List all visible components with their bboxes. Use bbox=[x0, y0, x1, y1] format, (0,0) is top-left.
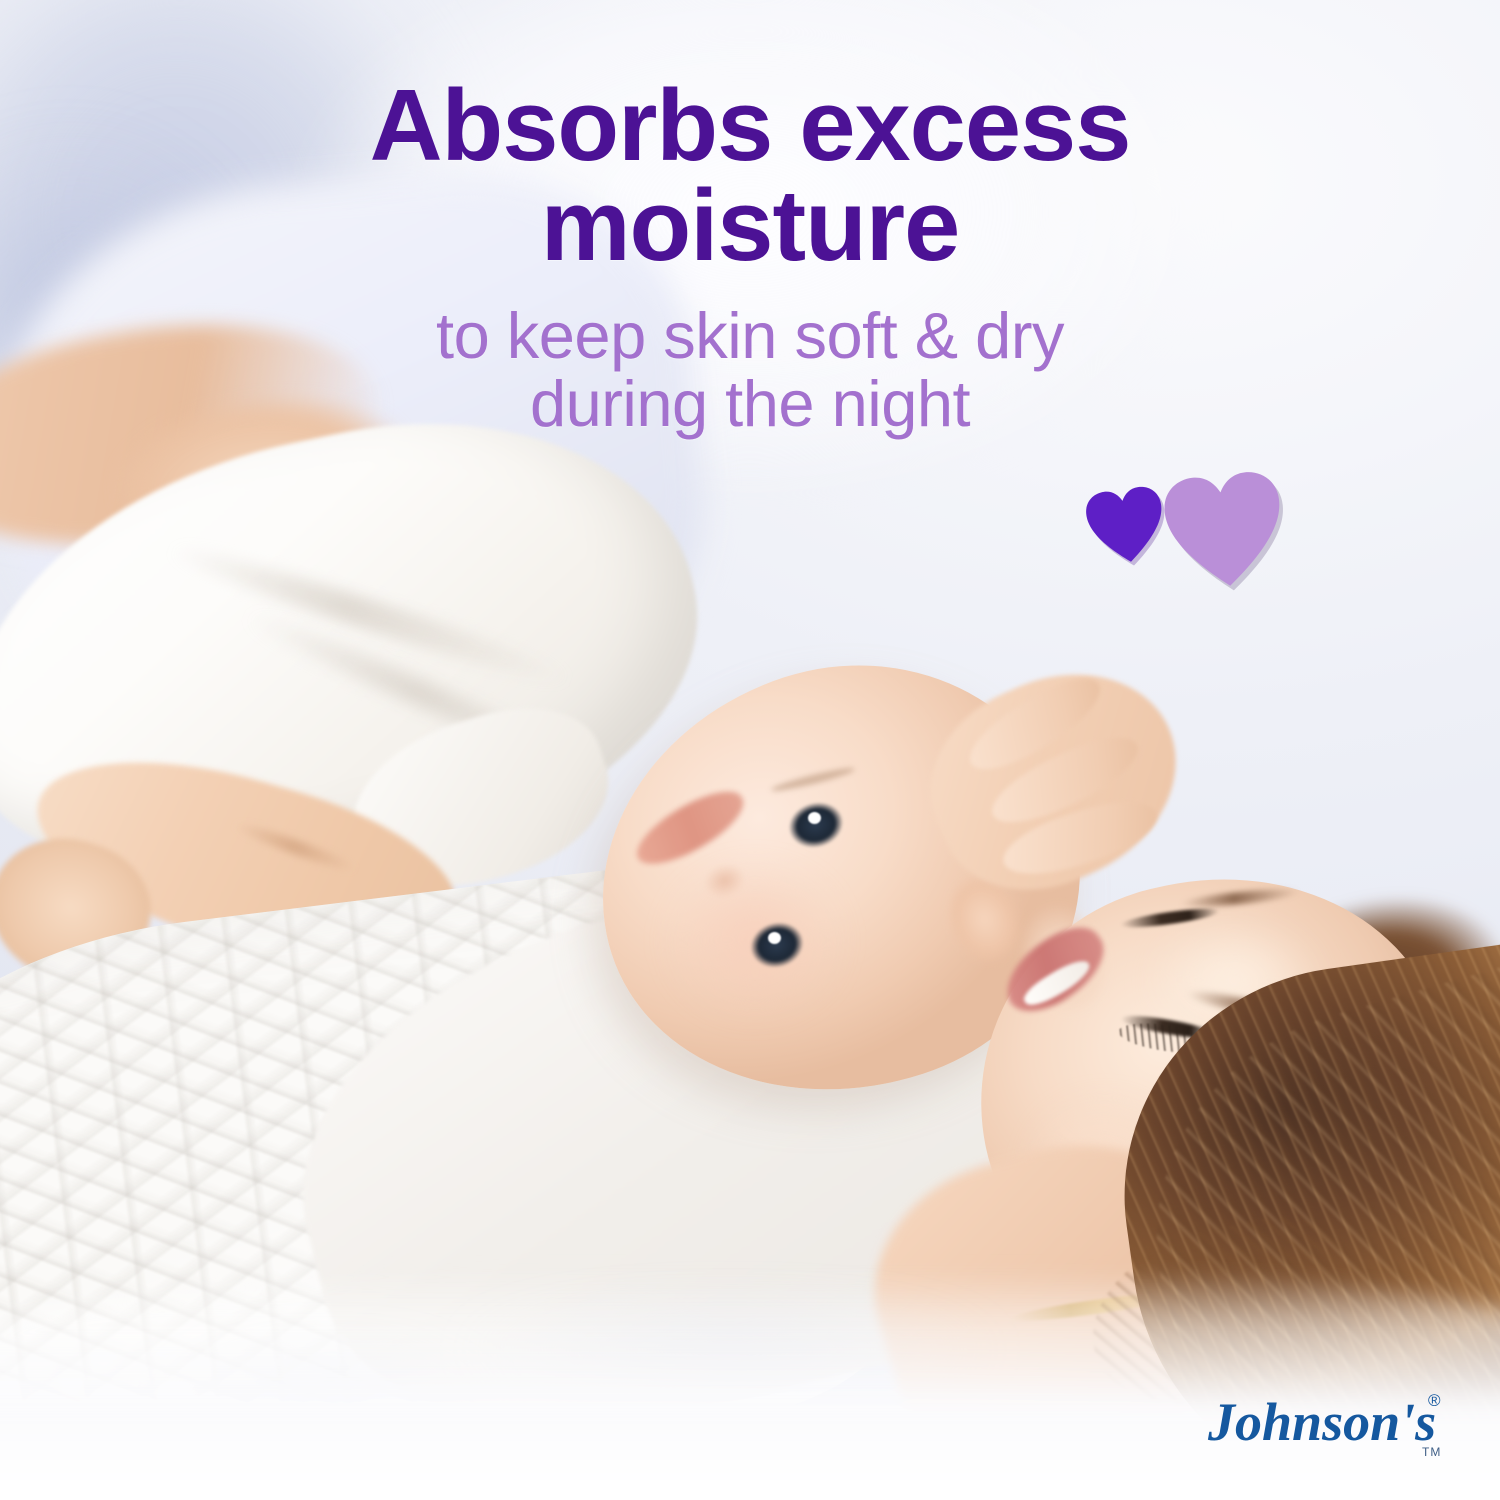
marketing-copy-block: Absorbs excess moisture to keep skin sof… bbox=[0, 76, 1500, 437]
hearts-decoration bbox=[1085, 470, 1315, 590]
trademark-mark: TM bbox=[1422, 1445, 1441, 1459]
heart-icon-large bbox=[1162, 470, 1287, 592]
heart-icon-small bbox=[1085, 486, 1167, 566]
headline-line-2: moisture bbox=[180, 176, 1320, 276]
johnsons-logo[interactable]: Johnson's ® TM bbox=[1200, 1382, 1470, 1468]
headline: Absorbs excess moisture bbox=[0, 76, 1500, 276]
johnsons-wordmark: Johnson's ® TM bbox=[1200, 1382, 1470, 1468]
ad-creative-canvas: Absorbs excess moisture to keep skin sof… bbox=[0, 0, 1500, 1500]
subheadline-line-1: to keep skin soft & dry bbox=[160, 302, 1340, 370]
subheadline: to keep skin soft & dry during the night bbox=[0, 302, 1500, 437]
headline-line-1: Absorbs excess bbox=[180, 76, 1320, 176]
logo-text: Johnson's bbox=[1207, 1392, 1436, 1452]
registered-mark: ® bbox=[1428, 1391, 1441, 1410]
subheadline-line-2: during the night bbox=[160, 370, 1340, 438]
